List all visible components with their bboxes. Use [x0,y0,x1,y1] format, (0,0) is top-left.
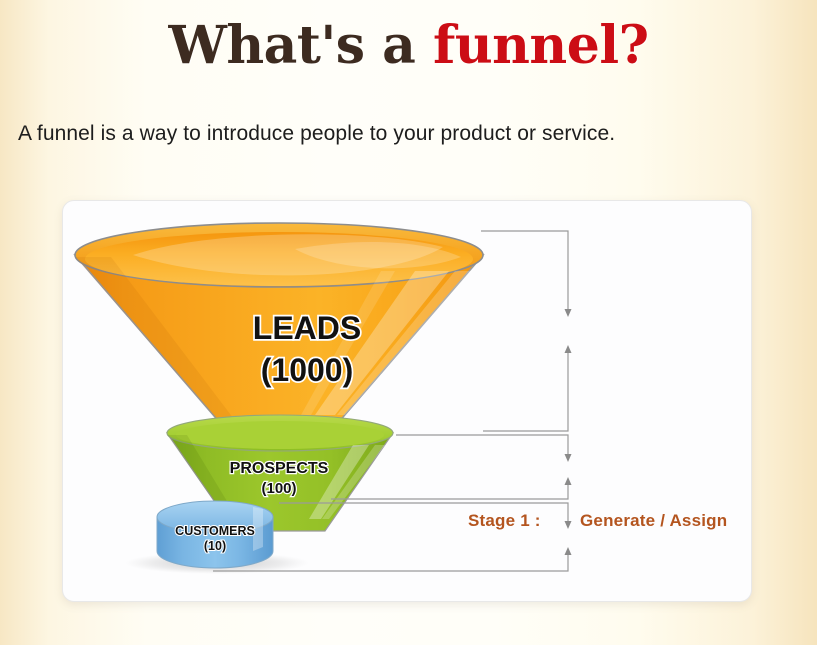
page-title: What's a funnel? [0,14,817,78]
stage-1-description: Generate / Assign [580,511,727,531]
funnel-diagram-card: LEADS (1000) PROSPECTS (100) CUSTOMERS (… [62,200,752,602]
bracket-stage2-upper [396,435,568,456]
stage-row-1: Stage 1 : Generate / Assign [468,511,727,531]
arrow-stage3-up [565,547,572,555]
arrow-stage2-up [565,477,572,485]
page-root: What's a funnel? A funnel is a way to in… [0,0,817,645]
arrow-stage1-up [565,345,572,353]
bracket-stage3-lower [213,553,568,571]
bracket-stage1-upper [481,231,568,311]
stage-brackets [63,201,751,601]
page-title-accent: funnel? [433,15,649,76]
bracket-stage1-lower [483,351,568,431]
funnel-diagram: LEADS (1000) PROSPECTS (100) CUSTOMERS (… [63,201,751,601]
page-title-prefix: What's a [168,15,433,76]
stage-1-number: Stage 1 : [468,511,554,531]
arrow-stage2-down [565,454,572,462]
arrow-stage1-down [565,309,572,317]
bracket-stage2-lower [331,483,568,499]
page-subtitle: A funnel is a way to introduce people to… [18,122,615,146]
